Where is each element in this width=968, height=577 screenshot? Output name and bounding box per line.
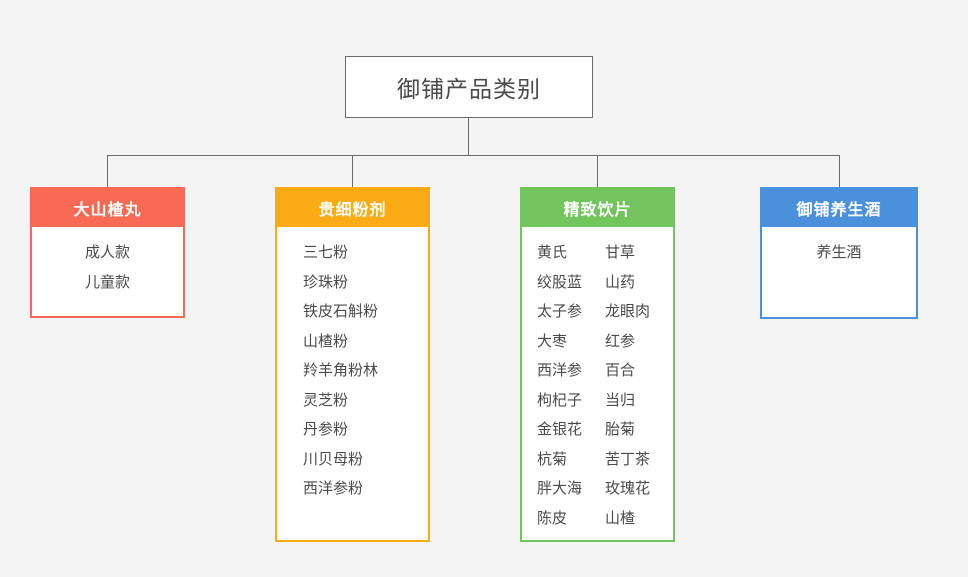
list-item: 苦丁茶 [605,445,673,475]
root-node[interactable]: 御铺产品类别 [345,56,593,118]
list-item[interactable]: 灵芝粉 [277,386,428,416]
category-items-guixifenji: 三七粉 珍珠粉 铁皮石斛粉 山楂粉 羚羊角粉林 灵芝粉 丹参粉 川贝母粉 西洋参… [277,227,428,504]
diagram-canvas: 御铺产品类别 大山楂丸 成人款 儿童款 贵细粉剂 三七粉 珍珠粉 铁皮石斛粉 山… [0,0,968,577]
table-row[interactable]: 绞股蓝 山药 [522,268,673,298]
connector-horizontal-bus [107,155,839,156]
list-item: 杭菊 [537,445,605,475]
category-title: 大山楂丸 [73,196,141,220]
list-item[interactable]: 川贝母粉 [277,445,428,475]
category-items-dashanzhawan: 成人款 儿童款 [32,227,183,297]
category-items-jingzhiyinpian: 黄氏 甘草 绞股蓝 山药 太子参 龙眼肉 大枣 红参 西洋参 百合 枸杞子 当归 [522,227,673,533]
connector-drop-3 [597,155,598,187]
list-item: 甘草 [605,238,673,268]
list-item: 百合 [605,356,673,386]
category-header-yupuyangshengjiu: 御铺养生酒 [762,189,916,227]
category-box-jingzhiyinpian[interactable]: 精致饮片 黄氏 甘草 绞股蓝 山药 太子参 龙眼肉 大枣 红参 西洋参 百合 [520,187,675,542]
root-node-label: 御铺产品类别 [397,70,541,104]
table-row[interactable]: 杭菊 苦丁茶 [522,445,673,475]
category-box-dashanzhawan[interactable]: 大山楂丸 成人款 儿童款 [30,187,185,318]
list-item: 绞股蓝 [537,268,605,298]
table-row[interactable]: 枸杞子 当归 [522,386,673,416]
category-header-jingzhiyinpian: 精致饮片 [522,189,673,227]
list-item[interactable]: 山楂粉 [277,327,428,357]
list-item: 西洋参 [537,356,605,386]
list-item: 山药 [605,268,673,298]
list-item[interactable]: 羚羊角粉林 [277,356,428,386]
table-row[interactable]: 陈皮 山楂 [522,504,673,534]
category-header-dashanzhawan: 大山楂丸 [32,189,183,227]
connector-drop-4 [839,155,840,187]
connector-drop-2 [352,155,353,187]
list-item: 红参 [605,327,673,357]
list-item[interactable]: 西洋参粉 [277,474,428,504]
list-item[interactable]: 养生酒 [762,238,916,268]
list-item: 金银花 [537,415,605,445]
category-header-guixifenji: 贵细粉剂 [277,189,428,227]
list-item: 胎菊 [605,415,673,445]
list-item: 大枣 [537,327,605,357]
list-item: 黄氏 [537,238,605,268]
table-row[interactable]: 太子参 龙眼肉 [522,297,673,327]
list-item[interactable]: 珍珠粉 [277,268,428,298]
list-item: 陈皮 [537,504,605,534]
list-item: 龙眼肉 [605,297,673,327]
table-row[interactable]: 大枣 红参 [522,327,673,357]
category-title: 贵细粉剂 [318,196,386,220]
connector-drop-1 [107,155,108,187]
table-row[interactable]: 西洋参 百合 [522,356,673,386]
table-row[interactable]: 胖大海 玫瑰花 [522,474,673,504]
list-item[interactable]: 铁皮石斛粉 [277,297,428,327]
table-row[interactable]: 黄氏 甘草 [522,238,673,268]
connector-root-stem [468,118,469,155]
category-items-yupuyangshengjiu: 养生酒 [762,227,916,268]
list-item[interactable]: 三七粉 [277,238,428,268]
list-item: 枸杞子 [537,386,605,416]
category-box-guixifenji[interactable]: 贵细粉剂 三七粉 珍珠粉 铁皮石斛粉 山楂粉 羚羊角粉林 灵芝粉 丹参粉 川贝母… [275,187,430,542]
list-item[interactable]: 丹参粉 [277,415,428,445]
category-title: 御铺养生酒 [796,196,881,220]
list-item: 胖大海 [537,474,605,504]
table-row[interactable]: 金银花 胎菊 [522,415,673,445]
list-item: 玫瑰花 [605,474,673,504]
category-title: 精致饮片 [563,196,631,220]
list-item: 当归 [605,386,673,416]
list-item: 太子参 [537,297,605,327]
list-item: 山楂 [605,504,673,534]
list-item[interactable]: 儿童款 [32,268,183,298]
category-box-yupuyangshengjiu[interactable]: 御铺养生酒 养生酒 [760,187,918,319]
list-item[interactable]: 成人款 [32,238,183,268]
